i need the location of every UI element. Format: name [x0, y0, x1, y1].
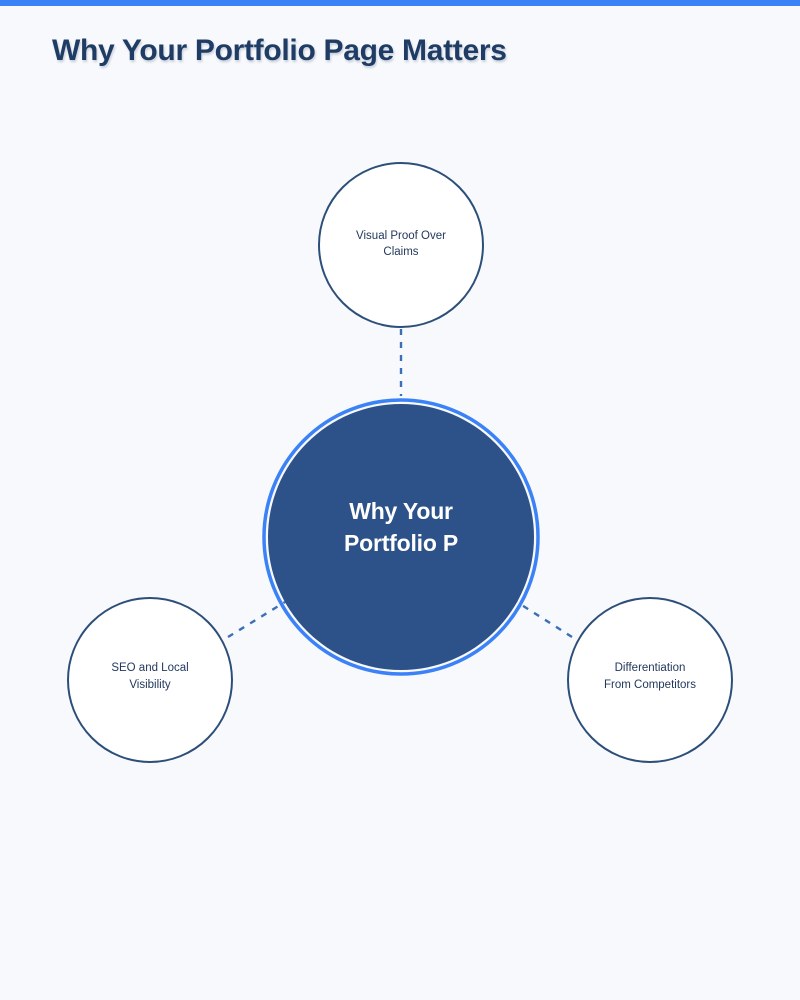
node-visual-proof-label-line2: Claims: [383, 246, 418, 258]
node-differentiation-label-line2: From Competitors: [604, 679, 696, 691]
diagram-canvas: Visual Proof Over Claims SEO and Local V…: [0, 0, 800, 1000]
node-differentiation[interactable]: Differentiation From Competitors: [568, 598, 732, 762]
connector-hub-to-differentiation: [517, 602, 572, 637]
hub-label-line1: Why Your: [349, 498, 453, 524]
node-seo-local-visibility[interactable]: SEO and Local Visibility: [68, 598, 232, 762]
node-visual-proof[interactable]: Visual Proof Over Claims: [319, 163, 483, 327]
node-differentiation-label-line1: Differentiation: [615, 662, 686, 674]
hub-label-line2: Portfolio P: [344, 530, 458, 556]
node-visual-proof-circle[interactable]: [319, 163, 483, 327]
node-visual-proof-label-line1: Visual Proof Over: [356, 230, 446, 242]
node-seo-local-visibility-label-line2: Visibility: [129, 679, 171, 691]
connector-hub-to-seo-local-visibility: [228, 602, 285, 637]
node-seo-local-visibility-label-line1: SEO and Local: [111, 662, 188, 674]
hub-node[interactable]: Why Your Portfolio P: [264, 400, 538, 674]
